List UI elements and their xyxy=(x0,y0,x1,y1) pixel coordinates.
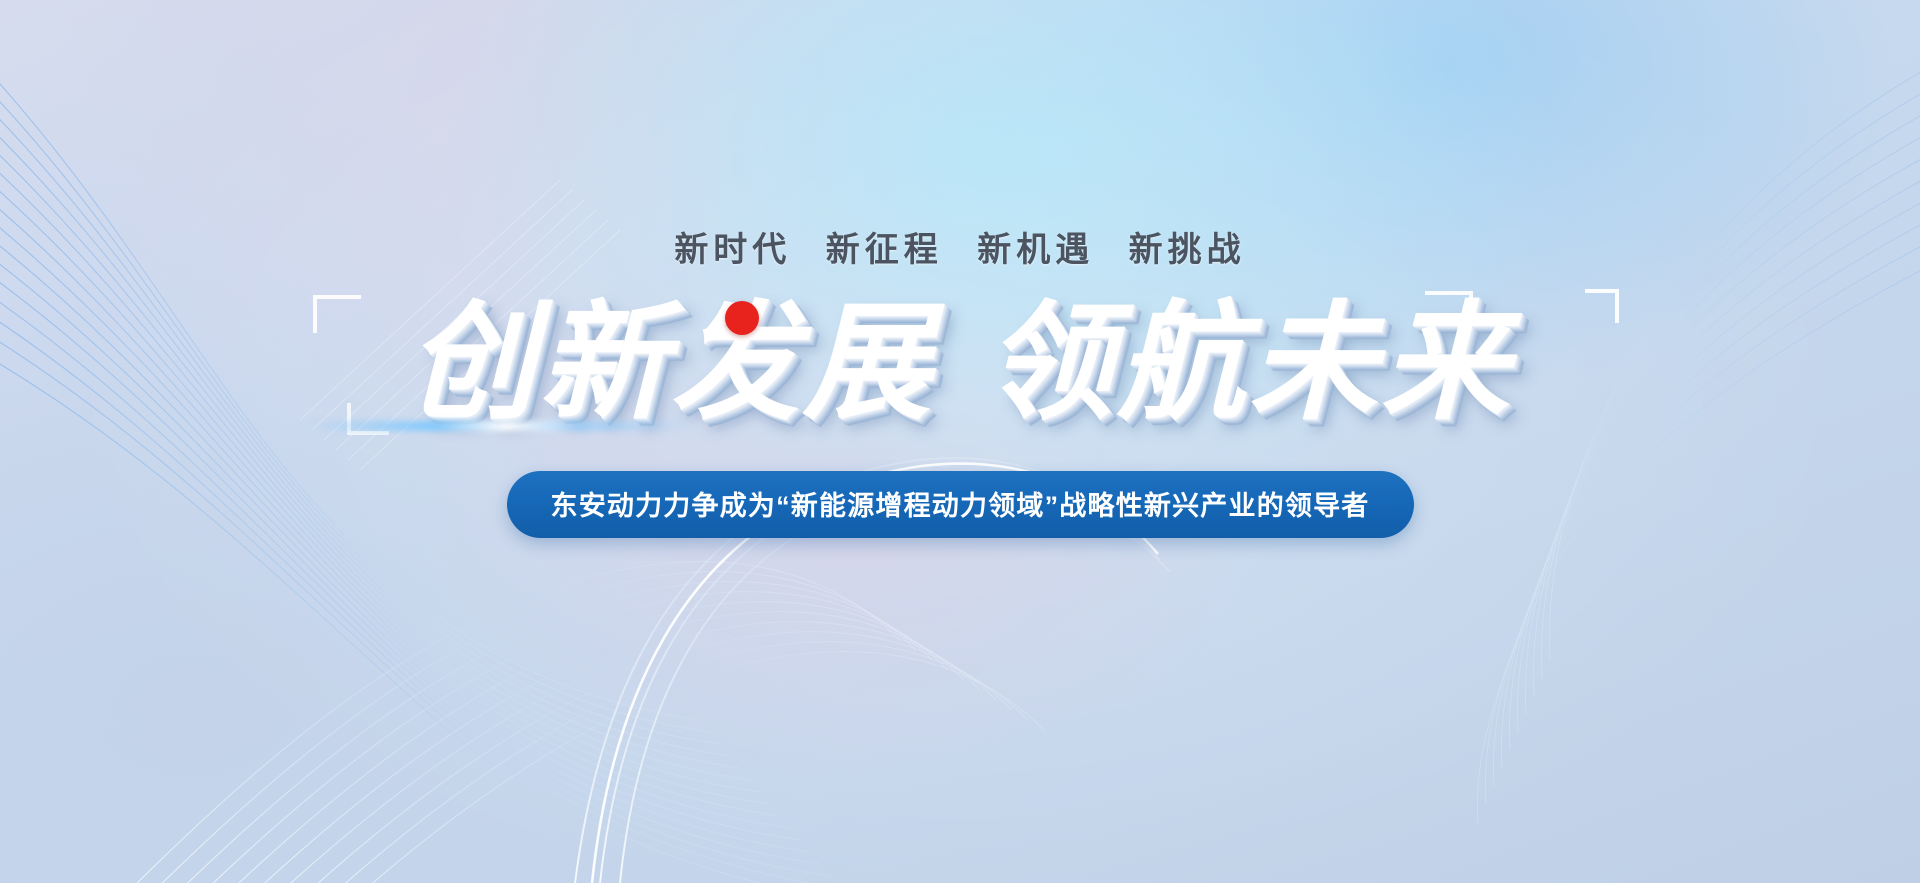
headline-part-1: 创新发展 xyxy=(407,289,935,438)
red-dot-accent-icon xyxy=(725,301,759,335)
headline-wrapper: 创新发展领航未来 xyxy=(295,289,1625,441)
headline-part-2: 领航未来 xyxy=(985,289,1513,438)
tagline-item-2: 新征程 xyxy=(816,231,953,269)
slogan-pill: 东安动力力争成为“新能源增程动力领域”战略性新兴产业的领导者 xyxy=(507,471,1414,538)
promo-banner: 新时代 新征程 新机遇 新挑战 创新发展领航未来 东安动力力争成为“新能源增程动… xyxy=(0,0,1920,883)
tagline-item-3: 新机遇 xyxy=(967,231,1104,269)
tagline-item-1: 新时代 xyxy=(664,231,801,269)
light-streak-decoration xyxy=(275,421,695,431)
tagline-item-4: 新挑战 xyxy=(1119,231,1256,269)
banner-tagline: 新时代 新征程 新机遇 新挑战 xyxy=(664,222,1255,271)
banner-content: 新时代 新征程 新机遇 新挑战 创新发展领航未来 东安动力力争成为“新能源增程动… xyxy=(0,0,1920,883)
banner-headline: 创新发展领航未来 xyxy=(295,289,1625,439)
